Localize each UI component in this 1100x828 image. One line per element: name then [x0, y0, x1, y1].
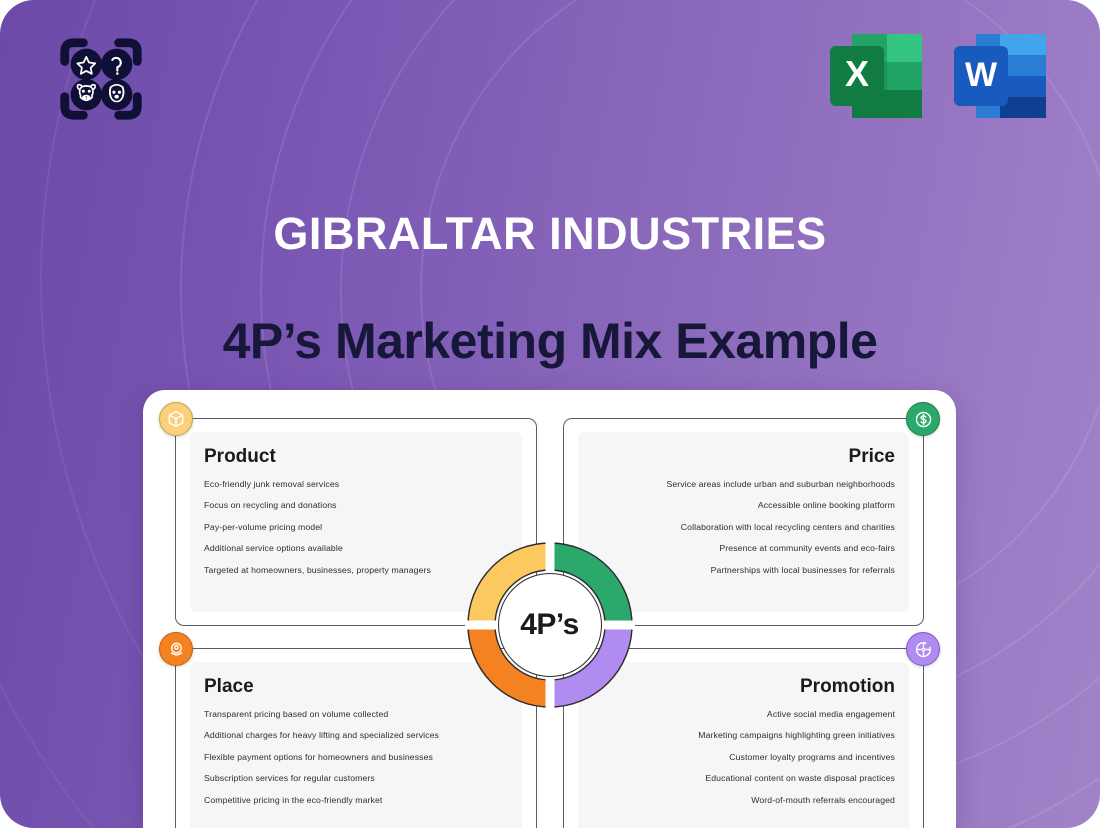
quadrant-title: Place	[204, 676, 254, 698]
list-item: Collaboration with local recycling cente…	[666, 522, 895, 533]
star-icon	[71, 49, 102, 80]
list-item: Subscription services for regular custom…	[204, 773, 439, 784]
quadrant-title: Promotion	[800, 676, 895, 698]
list-item: Educational content on waste disposal pr…	[698, 773, 895, 784]
location-pin-icon	[159, 632, 193, 666]
quiz-scanner-logo[interactable]	[52, 30, 150, 128]
list-item: Word-of-mouth referrals encouraged	[698, 795, 895, 806]
donut-center-label: 4P’s	[520, 608, 579, 642]
quadrant-list: Transparent pricing based on volume coll…	[204, 709, 439, 816]
dog-icon	[101, 79, 132, 110]
microsoft-excel-icon[interactable]: X	[826, 28, 926, 124]
quadrant-title: Product	[204, 446, 276, 468]
question-mark-icon	[101, 49, 132, 80]
list-item: Active social media engagement	[698, 709, 895, 720]
list-item: Customer loyalty programs and incentives	[698, 752, 895, 763]
dollar-coin-icon	[906, 402, 940, 436]
slide-canvas: X W GIBRALTAR INDUSTRIES 4P’s Marketing …	[0, 0, 1100, 828]
quadrant-title: Price	[849, 446, 895, 468]
list-item: Pay-per-volume pricing model	[204, 522, 431, 533]
list-item: Partnerships with local businesses for r…	[666, 565, 895, 576]
list-item: Marketing campaigns highlighting green i…	[698, 730, 895, 741]
office-app-icons: X W	[826, 28, 1050, 124]
svg-text:W: W	[965, 56, 998, 94]
list-item: Accessible online booking platform	[666, 500, 895, 511]
list-item: Focus on recycling and donations	[204, 500, 431, 511]
donut-center-hub: 4P’s	[498, 573, 602, 677]
package-box-icon	[159, 402, 193, 436]
target-crosshair-icon	[906, 632, 940, 666]
quadrant-list: Service areas include urban and suburban…	[666, 479, 895, 586]
list-item: Flexible payment options for homeowners …	[204, 752, 439, 763]
company-name: GIBRALTAR INDUSTRIES	[0, 208, 1100, 260]
page-title: 4P’s Marketing Mix Example	[0, 312, 1100, 370]
marketing-mix-card: Product Eco-friendly junk removal servic…	[143, 390, 956, 828]
list-item: Transparent pricing based on volume coll…	[204, 709, 439, 720]
quadrant-list: Active social media engagement Marketing…	[698, 709, 895, 816]
quadrant-list: Eco-friendly junk removal services Focus…	[204, 479, 431, 586]
list-item: Targeted at homeowners, businesses, prop…	[204, 565, 431, 576]
list-item: Service areas include urban and suburban…	[666, 479, 895, 490]
list-item: Presence at community events and eco-fai…	[666, 543, 895, 554]
list-item: Eco-friendly junk removal services	[204, 479, 431, 490]
list-item: Competitive pricing in the eco-friendly …	[204, 795, 439, 806]
list-item: Additional service options available	[204, 543, 431, 554]
list-item: Additional charges for heavy lifting and…	[204, 730, 439, 741]
microsoft-word-icon[interactable]: W	[950, 28, 1050, 124]
svg-text:X: X	[845, 53, 869, 94]
cow-icon	[71, 79, 102, 110]
four-ps-donut-chart: 4P’s	[465, 540, 635, 710]
